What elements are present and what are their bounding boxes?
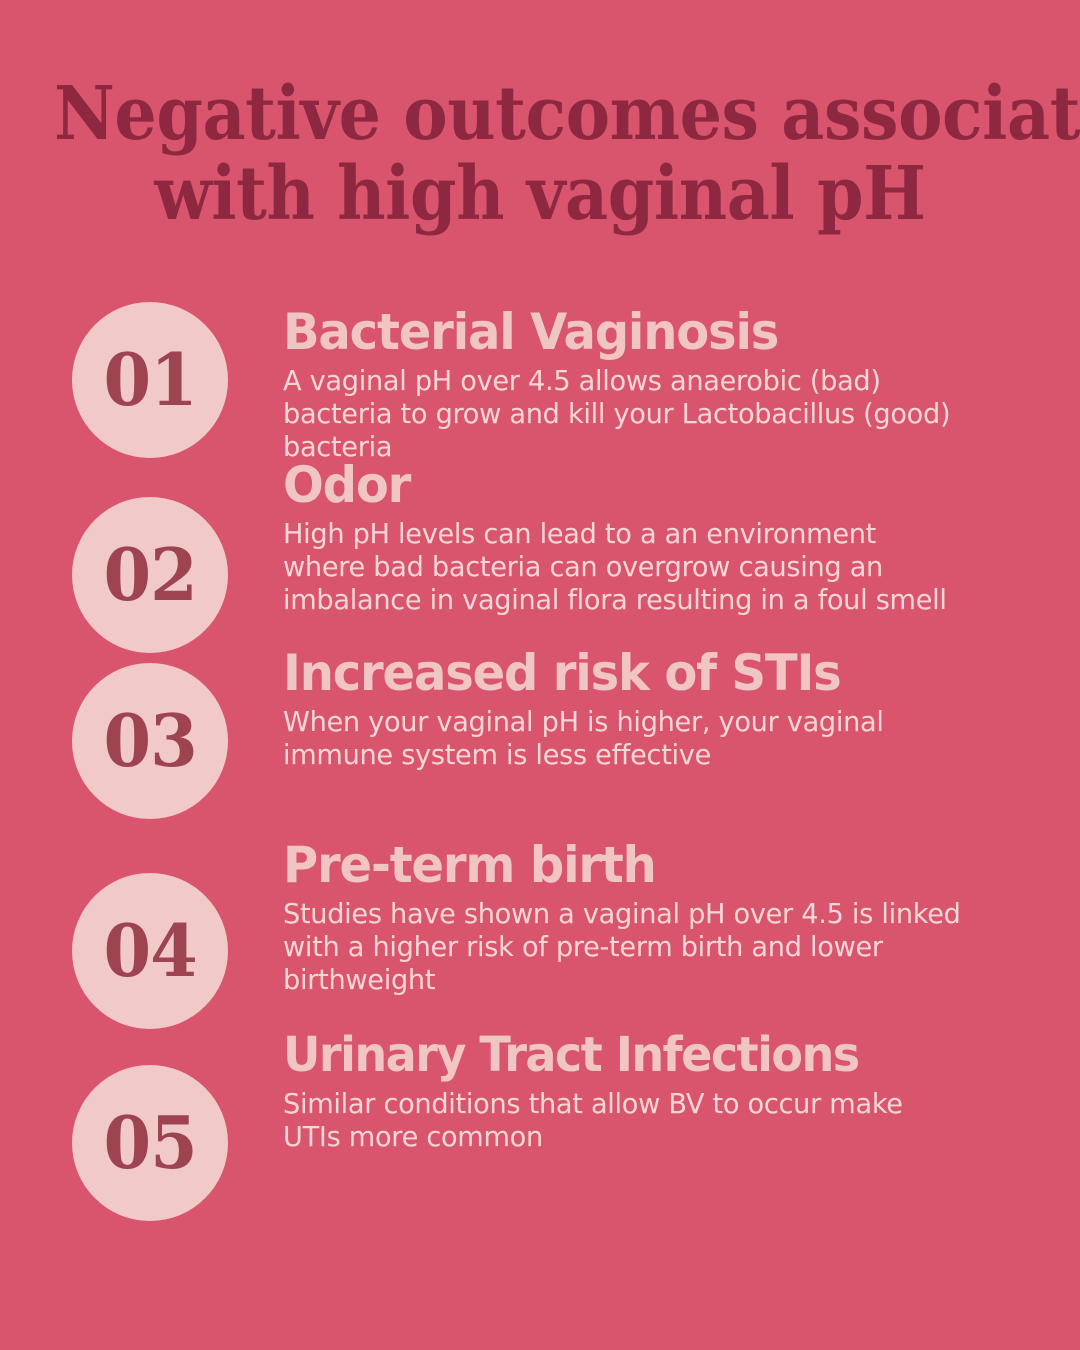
infographic-poster: Negative outcomes associated with high v…: [0, 0, 1080, 1350]
list-item: 03 Increased risk of STIs When your vagi…: [0, 639, 1080, 819]
list-item-content: Odor High pH levels can lead to a an env…: [283, 457, 1056, 616]
number-badge-01: 01: [72, 302, 228, 458]
list-item-heading: Urinary Tract Infections: [283, 1027, 1025, 1083]
number-badge-02: 02: [72, 497, 228, 653]
list-item-heading: Increased risk of STIs: [283, 645, 1025, 701]
list-item-body: When your vaginal pH is higher, your vag…: [283, 705, 962, 771]
badge-number-label: 04: [103, 915, 196, 987]
number-badge-05: 05: [72, 1065, 228, 1221]
badge-number-label: 02: [103, 539, 196, 611]
list-item-body: High pH levels can lead to a an environm…: [283, 517, 962, 616]
number-badge-04: 04: [72, 873, 228, 1029]
badge-number-label: 05: [103, 1107, 196, 1179]
list-item-heading: Bacterial Vaginosis: [283, 304, 1025, 360]
list-item-content: Urinary Tract Infections Similar conditi…: [283, 1023, 1056, 1153]
list-item-heading: Pre-term birth: [283, 837, 1025, 893]
badge-number-label: 03: [103, 705, 196, 777]
list-item-body: Studies have shown a vaginal pH over 4.5…: [283, 897, 962, 996]
list-item-content: Increased risk of STIs When your vaginal…: [283, 639, 1056, 771]
number-badge-03: 03: [72, 663, 228, 819]
page-title-line-1: Negative outcomes associated: [54, 74, 1026, 154]
list-item: 01 Bacterial Vaginosis A vaginal pH over…: [0, 302, 1080, 463]
list-item: 05 Urinary Tract Infections Similar cond…: [0, 1023, 1080, 1221]
list-item-body: Similar conditions that allow BV to occu…: [283, 1087, 962, 1153]
list-item-content: Pre-term birth Studies have shown a vagi…: [283, 837, 1056, 996]
list-item: 04 Pre-term birth Studies have shown a v…: [0, 837, 1080, 1029]
list-item-heading: Odor: [283, 457, 1025, 513]
outcomes-list: 01 Bacterial Vaginosis A vaginal pH over…: [0, 296, 1080, 1221]
list-item-body: A vaginal pH over 4.5 allows anaerobic (…: [283, 364, 962, 463]
list-item-content: Bacterial Vaginosis A vaginal pH over 4.…: [283, 302, 1056, 463]
page-title: Negative outcomes associated with high v…: [0, 74, 1080, 234]
list-item: 02 Odor High pH levels can lead to a an …: [0, 457, 1080, 653]
page-title-line-2: with high vaginal pH: [54, 154, 1026, 234]
badge-number-label: 01: [103, 344, 196, 416]
